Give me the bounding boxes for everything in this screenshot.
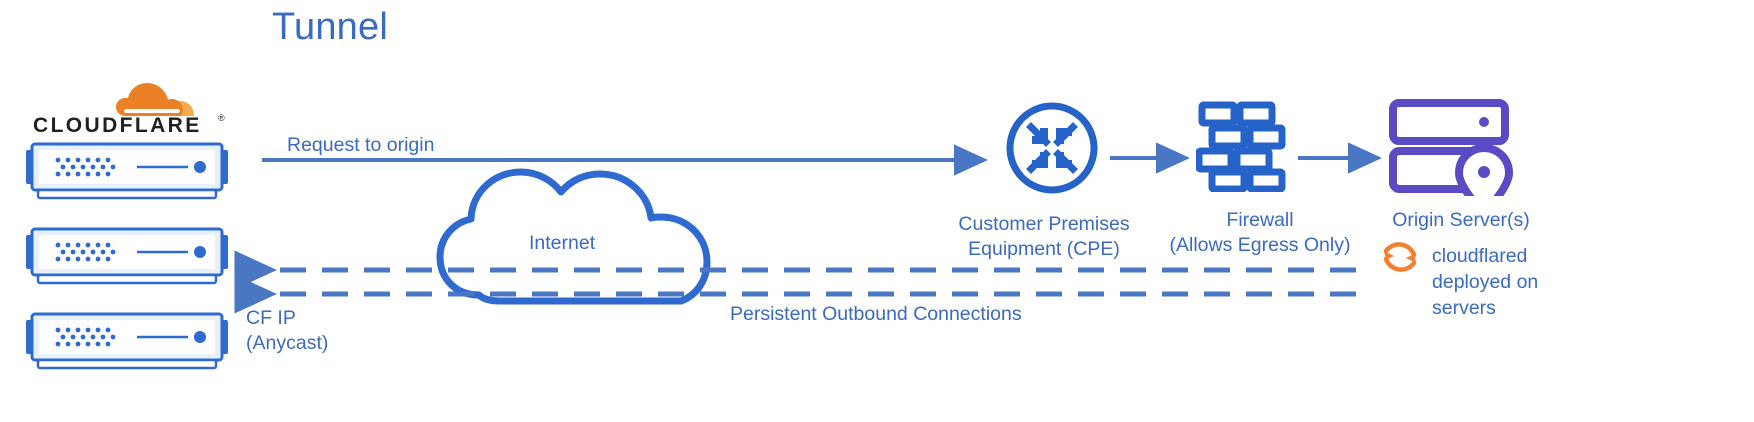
label-customer-premises-equipment: Customer Premises Equipment (CPE) (947, 212, 1141, 262)
cloudflare-logo: CLOUDFLARE ® (30, 74, 230, 136)
label-origin-servers: Origin Server(s) (1376, 208, 1546, 233)
four-arrows-circle-icon (1004, 100, 1100, 196)
logo-wordmark: CLOUDFLARE (33, 114, 202, 136)
cf-server-2 (22, 225, 222, 287)
cf-server-3 (22, 310, 222, 372)
logo-trademark: ® (218, 113, 225, 123)
label-firewall: Firewall (Allows Egress Only) (1155, 208, 1365, 258)
label-cf-ip-anycast: CF IP (Anycast) (246, 306, 328, 356)
diagram-canvas: Tunnel CLOUDFLARE ® (0, 0, 1754, 422)
label-internet: Internet (529, 231, 595, 256)
server-pin-icon (1388, 98, 1514, 196)
sync-refresh-icon (1378, 235, 1422, 279)
label-persistent-outbound-connections: Persistent Outbound Connections (730, 302, 1022, 327)
label-cloudflared-deployed: cloudflared deployed on servers (1432, 243, 1602, 321)
cf-server-1 (22, 140, 222, 202)
label-request-to-origin: Request to origin (287, 133, 434, 158)
page-title: Tunnel (272, 6, 388, 49)
brick-wall-icon (1196, 100, 1286, 192)
